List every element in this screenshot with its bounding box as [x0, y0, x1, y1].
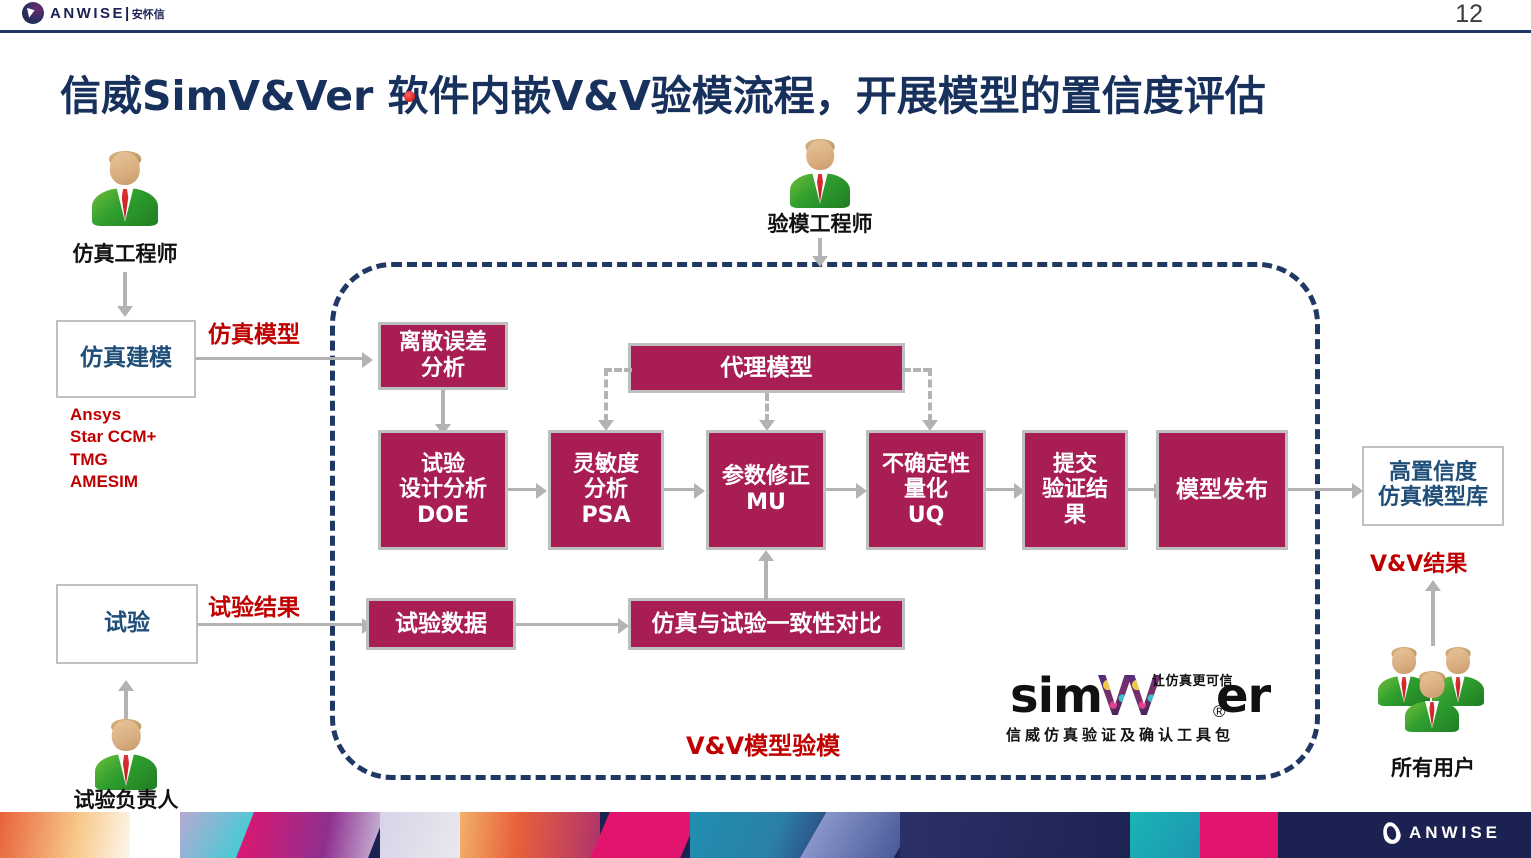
- box-psa-line3: PSA: [573, 503, 639, 529]
- box-model-publish-label: 模型发布: [1176, 477, 1268, 504]
- anwise-drop-icon: [1380, 820, 1402, 846]
- arrow-head-up: [758, 550, 774, 561]
- box-surrogate-model[interactable]: 代理模型: [628, 343, 905, 393]
- box-consistency-label: 仿真与试验一致性对比: [652, 611, 882, 638]
- dashed-link-surrogate-to-psa: [604, 368, 608, 422]
- dashed-link-surrogate-to-mu: [765, 393, 769, 422]
- arrow-test-owner-to-test: [124, 690, 128, 722]
- box-psa[interactable]: 灵敏度 分析 PSA: [548, 430, 664, 550]
- arrow-test-data-to-consistency: [516, 623, 620, 626]
- footer-brand-name: ANWISE: [1409, 823, 1501, 843]
- dashed-link-surrogate-right: [903, 368, 931, 372]
- arrow-discrete-error-to-doe: [441, 390, 445, 426]
- simvver-subtitle: 信威仿真验证及确认工具包: [1006, 724, 1234, 745]
- footer-band: [900, 812, 1160, 858]
- box-doe[interactable]: 试验 设计分析 DOE: [378, 430, 508, 550]
- box-mu-line2: MU: [722, 490, 810, 516]
- box-discrete-error-line2: 分析: [399, 356, 487, 382]
- arrow-psa-to-mu: [664, 488, 696, 491]
- box-discrete-error-analysis[interactable]: 离散误差 分析: [378, 322, 508, 390]
- label-all-users: 所有用户: [1362, 752, 1504, 782]
- avatar-vv-engineer: [790, 140, 850, 208]
- box-doe-line2: 设计分析: [399, 477, 487, 503]
- label-sim-engineer: 仿真工程师: [58, 238, 192, 268]
- brand-separator: |: [125, 5, 132, 22]
- arrow-head-up: [1425, 580, 1441, 591]
- footer-band: [0, 812, 140, 858]
- arrow-submit-to-publish: [1128, 488, 1156, 491]
- box-library-line2: 仿真模型库: [1378, 486, 1488, 511]
- box-doe-line1: 试验: [399, 452, 487, 478]
- box-discrete-error-line1: 离散误差: [399, 330, 487, 356]
- box-doe-line3: DOE: [399, 503, 487, 529]
- arrow-test-to-test-data: [198, 623, 364, 626]
- simvver-logo: simxxer ® 让仿真更可信 信威仿真验证及确认工具包: [1000, 668, 1266, 750]
- arrow-publish-to-library: [1288, 488, 1360, 491]
- label-test-result-edge: 试验结果: [208, 588, 300, 622]
- arrow-consistency-to-mu: [764, 560, 768, 600]
- box-test-label: 试验: [104, 611, 150, 637]
- simvver-word-left: sim: [1010, 668, 1102, 724]
- box-sim-modeling-label: 仿真建模: [80, 346, 172, 372]
- tool-list-item: Star CCM+: [70, 426, 156, 448]
- box-mu[interactable]: 参数修正 MU: [706, 430, 826, 550]
- box-uq[interactable]: 不确定性 量化 UQ: [866, 430, 986, 550]
- box-psa-line2: 分析: [573, 477, 639, 503]
- box-high-confidence-model-library[interactable]: 高置信度 仿真模型库: [1362, 446, 1504, 526]
- header-bar: ANWISE|安怀信 12: [0, 0, 1531, 30]
- page-number: 12: [1455, 0, 1483, 29]
- box-surrogate-model-label: 代理模型: [721, 355, 813, 382]
- box-submit-validation-result[interactable]: 提交 验证结 果: [1022, 430, 1128, 550]
- box-test[interactable]: 试验: [56, 584, 198, 664]
- footer-brand-logo: ANWISE: [1383, 822, 1501, 844]
- brand-name-cn: 安怀信: [132, 9, 165, 21]
- arrow-modeling-to-discrete-error: [196, 357, 364, 360]
- footer-band: [590, 812, 700, 858]
- box-uq-line2: 量化: [882, 477, 970, 503]
- arrow-head-right: [362, 352, 373, 368]
- arrow-head-right: [694, 483, 705, 499]
- arrow-mu-to-uq: [826, 488, 858, 491]
- box-uq-line3: UQ: [882, 503, 970, 529]
- tool-list-item: TMG: [70, 449, 156, 471]
- label-vv-result: V&V结果: [1370, 546, 1467, 578]
- arrow-head-down: [117, 306, 133, 317]
- header-divider: [0, 30, 1531, 33]
- arrow-head-down: [812, 256, 828, 267]
- anwise-mark-icon: [22, 2, 44, 24]
- arrow-uq-to-submit: [986, 488, 1016, 491]
- footer-band: [1200, 812, 1290, 858]
- box-model-publish[interactable]: 模型发布: [1156, 430, 1288, 550]
- footer-band: [460, 812, 600, 858]
- arrow-head-right: [536, 483, 547, 499]
- arrow-sim-engineer-to-modeling: [123, 272, 127, 308]
- box-submit-line2: 验证结: [1042, 477, 1108, 503]
- footer-bar: ANWISE: [0, 812, 1531, 858]
- arrow-doe-to-psa: [508, 488, 538, 491]
- tool-list: Ansys Star CCM+ TMG AMESIM: [70, 404, 156, 494]
- dashed-link-surrogate-to-uq: [928, 368, 932, 422]
- brand-name: ANWISE|安怀信: [50, 5, 165, 22]
- box-mu-line1: 参数修正: [722, 464, 810, 490]
- page-title: 信威SimV&Ver 软件内嵌V&V验模流程，开展模型的置信度评估: [60, 62, 1266, 122]
- box-submit-line3: 果: [1042, 503, 1108, 529]
- tool-list-item: Ansys: [70, 404, 156, 426]
- vv-container-label: V&V模型验模: [686, 726, 840, 761]
- label-test-owner: 试验负责人: [58, 784, 194, 814]
- avatar-test-owner: [95, 720, 157, 790]
- label-sim-model-edge: 仿真模型: [208, 315, 300, 349]
- box-submit-line1: 提交: [1042, 452, 1108, 478]
- tool-list-item: AMESIM: [70, 471, 156, 493]
- title-accent-dot-icon: [404, 91, 415, 102]
- label-vv-engineer: 验模工程师: [753, 208, 887, 238]
- avatar-sim-engineer: [92, 152, 158, 226]
- box-uq-line1: 不确定性: [882, 452, 970, 478]
- brand-name-text: ANWISE: [50, 5, 125, 22]
- arrow-all-users-to-library: [1431, 590, 1435, 646]
- box-consistency-comparison[interactable]: 仿真与试验一致性对比: [628, 598, 905, 650]
- footer-band: [236, 812, 386, 858]
- avatar-user-front: [1405, 672, 1459, 732]
- box-sim-modeling[interactable]: 仿真建模: [56, 320, 196, 398]
- arrow-head-up: [118, 680, 134, 691]
- registered-trademark-icon: ®: [1213, 702, 1226, 722]
- dashed-link-surrogate-left: [604, 368, 632, 372]
- box-test-data-label: 试验数据: [395, 611, 487, 638]
- box-psa-line1: 灵敏度: [573, 452, 639, 478]
- brand-logo: ANWISE|安怀信: [22, 2, 165, 24]
- box-library-line1: 高置信度: [1389, 461, 1477, 486]
- simvver-tagline: 让仿真更可信: [1152, 670, 1233, 689]
- box-test-data[interactable]: 试验数据: [366, 598, 516, 650]
